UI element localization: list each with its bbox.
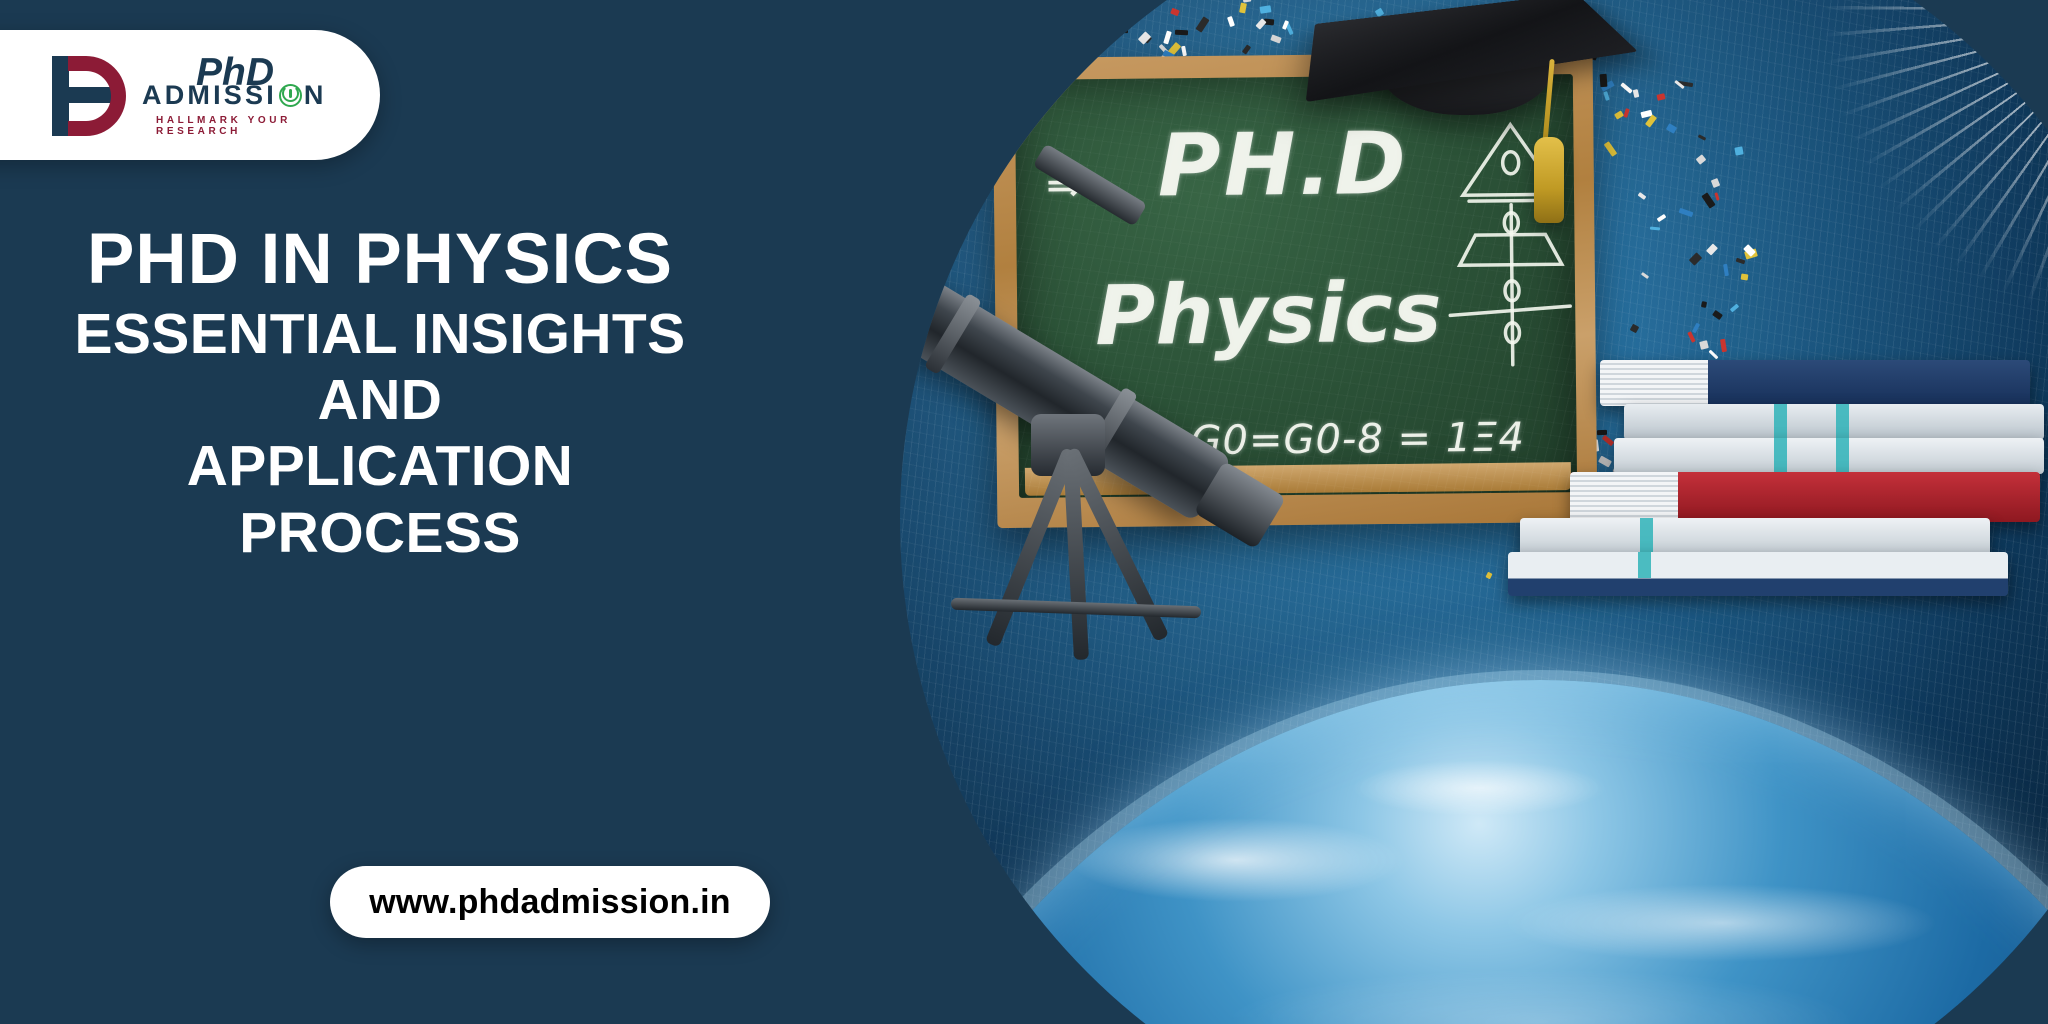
website-url-text: www.phdadmission.in bbox=[369, 883, 730, 922]
telescope-ring bbox=[924, 293, 982, 375]
headline-line-5: PROCESS bbox=[0, 500, 760, 566]
headline-line-2: ESSENTIAL INSIGHTS bbox=[0, 301, 760, 367]
book-pages bbox=[1600, 360, 1708, 406]
book-white-5 bbox=[1520, 518, 1990, 556]
book-navy-top bbox=[1600, 360, 2030, 406]
logo-brand-secondary-tail: N bbox=[304, 82, 327, 109]
headline-line-4: APPLICATION bbox=[0, 433, 760, 499]
headline-line-1: PHD IN PHYSICS bbox=[0, 222, 760, 297]
book-red bbox=[1570, 472, 2040, 522]
promo-banner: ⇒ PH.D Physics 6<C•-G0=G0-8 = 1Ξ4 bbox=[0, 0, 2048, 1024]
artwork-circle: ⇒ PH.D Physics 6<C•-G0=G0-8 = 1Ξ4 bbox=[900, 0, 2048, 1024]
logo-text-group: PhD ADMISSI N HALLMARK YOUR RESEARCH bbox=[142, 53, 380, 138]
logo-tagline: HALLMARK YOUR RESEARCH bbox=[156, 115, 380, 137]
telescope-eyepiece bbox=[1194, 461, 1287, 550]
graduation-cap-icon bbox=[1318, 0, 1638, 145]
book-white-2 bbox=[1624, 404, 2044, 440]
website-url-pill[interactable]: www.phdadmission.in bbox=[330, 866, 770, 938]
logo-brand-secondary: ADMISSI N bbox=[142, 82, 380, 109]
headline-line-3: AND bbox=[0, 367, 760, 433]
book-band bbox=[1774, 404, 1787, 440]
telescope-icon bbox=[900, 200, 1355, 660]
book-stack bbox=[1600, 360, 2048, 610]
book-band bbox=[1774, 438, 1787, 474]
monogram-d-shape bbox=[68, 56, 126, 136]
book-band bbox=[1640, 518, 1653, 556]
book-navy-bottom bbox=[1508, 552, 2008, 596]
headline-block: PHD IN PHYSICS ESSENTIAL INSIGHTS AND AP… bbox=[0, 222, 760, 566]
book-band bbox=[1836, 404, 1849, 440]
book-pages bbox=[1570, 472, 1678, 522]
book-band bbox=[1836, 438, 1849, 474]
power-o-icon bbox=[279, 84, 302, 107]
book-white-3 bbox=[1614, 438, 2044, 474]
phd-monogram-icon bbox=[46, 54, 132, 136]
logo-brand-secondary-text: ADMISSI bbox=[142, 82, 277, 109]
logo-badge[interactable]: PhD ADMISSI N HALLMARK YOUR RESEARCH bbox=[0, 30, 380, 160]
headline-subtitle: ESSENTIAL INSIGHTS AND APPLICATION PROCE… bbox=[0, 301, 760, 565]
book-band bbox=[1638, 552, 1651, 578]
cap-tassel bbox=[1534, 137, 1564, 223]
